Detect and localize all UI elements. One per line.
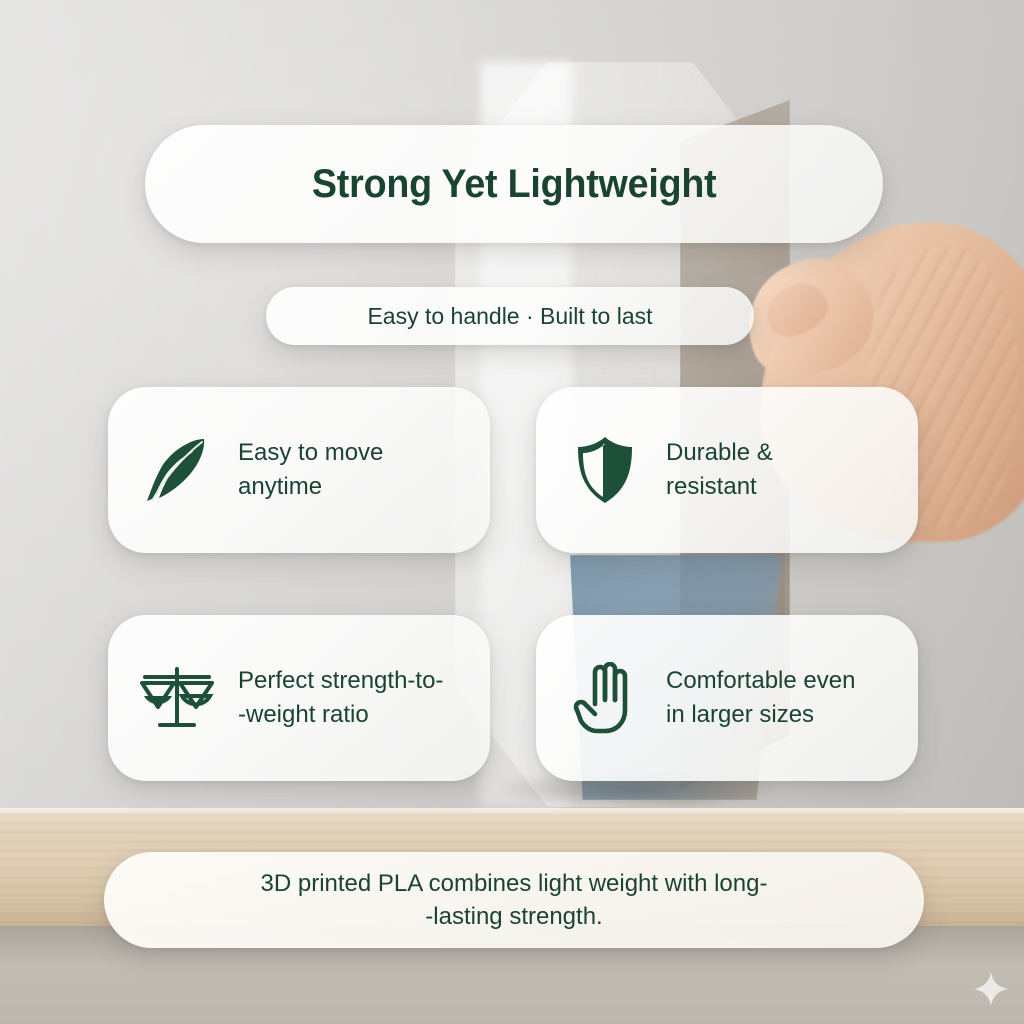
feature-line-2: resistant	[666, 470, 773, 504]
feature-line-1: Comfortable even	[666, 667, 855, 694]
sparkle-icon	[972, 970, 1010, 1008]
feature-card-strength-ratio[interactable]: Perfect strength-to- -weight ratio	[108, 615, 490, 781]
footer-caption: 3D printed PLA combines light weight wit…	[261, 867, 768, 933]
feather-icon	[138, 429, 216, 511]
infographic-canvas: Strong Yet Lightweight Easy to handle · …	[0, 0, 1024, 1024]
hand-icon	[566, 657, 644, 739]
subtitle-pill: Easy to handle · Built to last	[266, 287, 754, 345]
feature-line-2: in larger sizes	[666, 698, 855, 732]
footer-pill: 3D printed PLA combines light weight wit…	[104, 852, 924, 948]
feature-line-1: Easy to move	[238, 439, 383, 466]
feature-line-2: anytime	[238, 470, 383, 504]
shield-icon	[566, 429, 644, 511]
title-pill: Strong Yet Lightweight	[145, 125, 883, 243]
feature-line-1: Durable &	[666, 439, 773, 466]
feature-line-2: -weight ratio	[238, 698, 443, 732]
footer-line-1: 3D printed PLA combines light weight wit…	[261, 870, 768, 897]
feature-card-durable[interactable]: Durable & resistant	[536, 387, 918, 553]
feature-card-easy-to-move[interactable]: Easy to move anytime	[108, 387, 490, 553]
feature-card-comfortable[interactable]: Comfortable even in larger sizes	[536, 615, 918, 781]
feature-line-1: Perfect strength-to-	[238, 667, 443, 694]
feature-card-label: Comfortable even in larger sizes	[666, 664, 855, 732]
shelf-top-edge	[0, 808, 1024, 817]
page-subtitle: Easy to handle · Built to last	[367, 303, 652, 330]
page-title: Strong Yet Lightweight	[312, 162, 717, 207]
feature-card-label: Easy to move anytime	[238, 436, 383, 504]
feature-card-label: Perfect strength-to- -weight ratio	[238, 664, 443, 732]
balance-scales-icon	[138, 657, 216, 739]
feature-card-label: Durable & resistant	[666, 436, 773, 504]
footer-line-2: -lasting strength.	[261, 900, 768, 933]
